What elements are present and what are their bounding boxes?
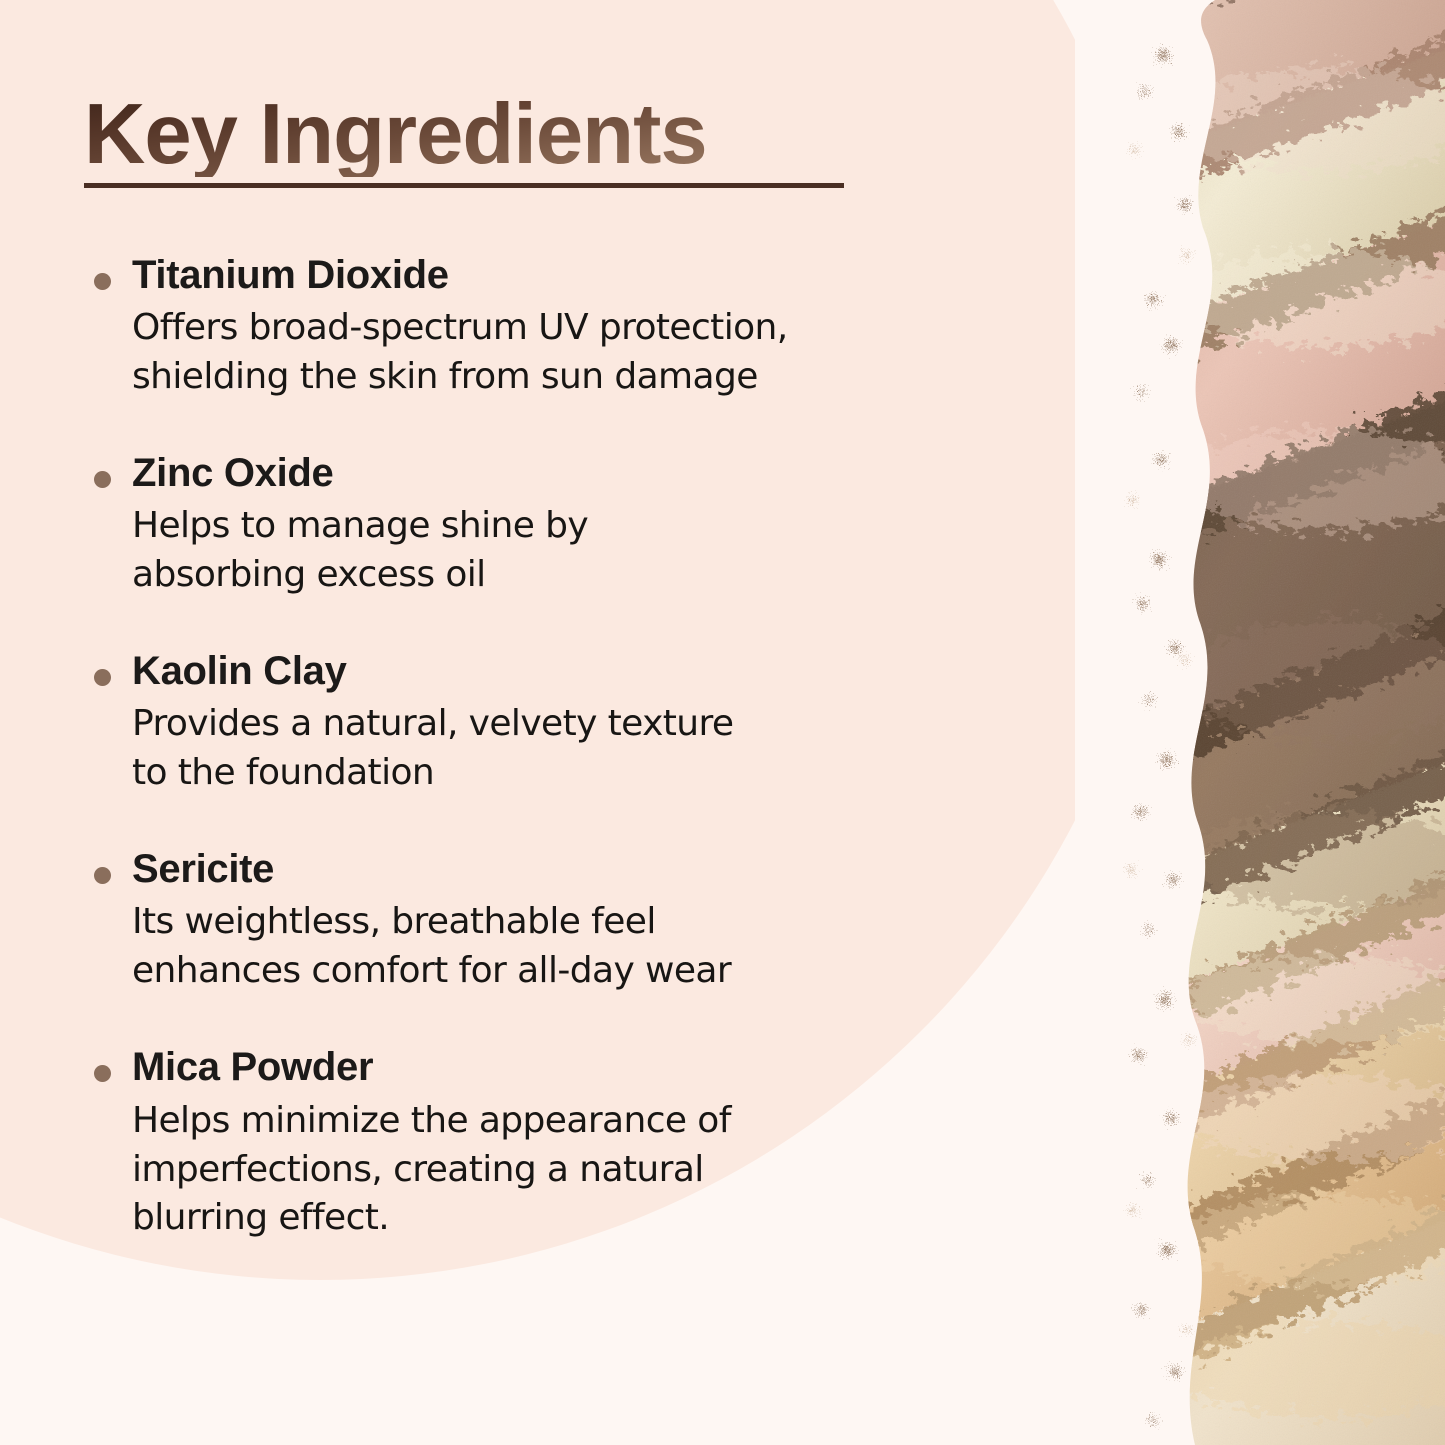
ingredient-description: Offers broad-spectrum UV protection, shi… [132, 304, 1008, 402]
ingredient-name: Titanium Dioxide [132, 252, 1008, 299]
page-title: Key Ingredients [84, 92, 844, 177]
ingredient-item-sericite: Sericite Its weightless, breathable feel… [88, 846, 1008, 996]
key-ingredients-infographic: Key Ingredients Titanium Dioxide Offers … [0, 0, 1445, 1445]
ingredient-list: Titanium Dioxide Offers broad-spectrum U… [88, 252, 1008, 1243]
page-title-block: Key Ingredients [84, 92, 844, 188]
ingredient-item-zinc-oxide: Zinc Oxide Helps to manage shine by abso… [88, 450, 1008, 600]
ingredient-item-mica-powder: Mica Powder Helps minimize the appearanc… [88, 1044, 1008, 1243]
bullet-dot-icon [94, 669, 111, 686]
bullet-dot-icon [94, 867, 111, 884]
ingredient-name: Kaolin Clay [132, 648, 1008, 695]
powder-bands-graphic [1075, 0, 1445, 1445]
bullet-dot-icon [94, 1065, 111, 1082]
ingredient-description: Helps minimize the appearance of imperfe… [132, 1097, 1008, 1244]
title-underline-rule [84, 183, 844, 188]
ingredient-name: Zinc Oxide [132, 450, 1008, 497]
ingredient-description: Provides a natural, velvety texture to t… [132, 700, 1008, 798]
ingredient-item-titanium-dioxide: Titanium Dioxide Offers broad-spectrum U… [88, 252, 1008, 402]
bullet-dot-icon [94, 471, 111, 488]
ingredient-description: Helps to manage shine by absorbing exces… [132, 502, 1008, 600]
content-column: Key Ingredients Titanium Dioxide Offers … [0, 0, 1080, 1445]
powder-swatch-image [1075, 0, 1445, 1445]
ingredient-item-kaolin-clay: Kaolin Clay Provides a natural, velvety … [88, 648, 1008, 798]
ingredient-name: Sericite [132, 846, 1008, 893]
bullet-dot-icon [94, 273, 111, 290]
ingredient-name: Mica Powder [132, 1044, 1008, 1091]
ingredient-description: Its weightless, breathable feel enhances… [132, 898, 1008, 996]
